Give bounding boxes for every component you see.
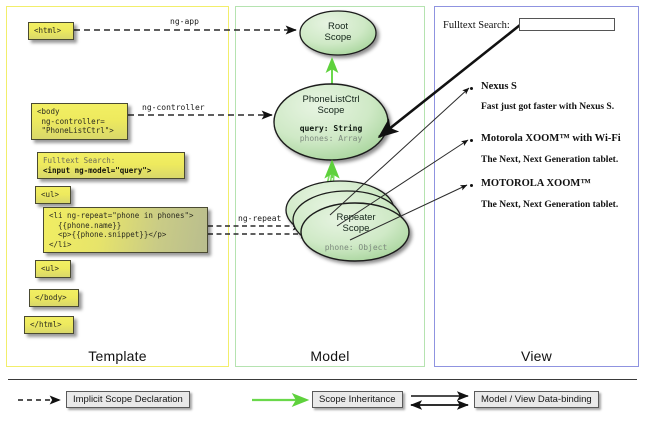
panel-label-view: View — [435, 348, 638, 364]
panel-label-template: Template — [7, 348, 228, 364]
code-box-html-open-tag: <html> — [28, 22, 74, 40]
view-item-title: Nexus S — [481, 81, 517, 92]
view-bullet — [470, 139, 473, 142]
arrow-label-ng-repeat: ng-repeat — [236, 214, 283, 223]
code-box-search-markup: Fulltext Search: <input ng-model="query"… — [37, 152, 185, 179]
code-box-html-close-tag: </html> — [24, 316, 74, 334]
view-bullet — [470, 184, 473, 187]
code-box-ul-open-tag: <ul> — [35, 186, 71, 204]
view-item-title: Motorola XOOM™ with Wi-Fi — [481, 133, 621, 144]
legend-implicit-scope-declaration: Implicit Scope Declaration — [66, 391, 190, 408]
code-box-body-open-tag: <body ng-controller= "PhoneListCtrl"> — [31, 103, 128, 140]
arrow-label-ng-controller: ng-controller — [140, 103, 207, 112]
code-box-li-repeat-markup: <li ng-repeat="phone in phones"> {{phone… — [43, 207, 208, 253]
arrow-label-ng-app: ng-app — [168, 17, 201, 26]
panel-model: Model — [235, 6, 425, 367]
view-item-snippet: The Next, Next Generation tablet. — [481, 200, 618, 210]
legend-glyph-databinding — [411, 396, 468, 405]
view-search-input[interactable] — [519, 18, 615, 31]
panel-label-model: Model — [236, 348, 424, 364]
view-search-label: Fulltext Search: — [443, 20, 510, 31]
code-box-ul-close-tag: <ul> — [35, 260, 71, 278]
search-markup-line2: <input ng-model="query"> — [43, 166, 151, 175]
view-bullet — [470, 87, 473, 90]
legend-model-view-data-binding: Model / View Data-binding — [474, 391, 599, 408]
view-item-snippet: The Next, Next Generation tablet. — [481, 155, 618, 165]
legend-separator — [8, 379, 637, 380]
diagram-canvas: Template Model View — [0, 0, 645, 425]
code-box-body-close-tag: </body> — [29, 289, 79, 307]
view-item-snippet: Fast just got faster with Nexus S. — [481, 102, 614, 112]
view-item-title: MOTOROLA XOOM™ — [481, 178, 591, 189]
legend-scope-inheritance: Scope Inheritance — [312, 391, 403, 408]
search-markup-line1: Fulltext Search: — [43, 156, 115, 165]
